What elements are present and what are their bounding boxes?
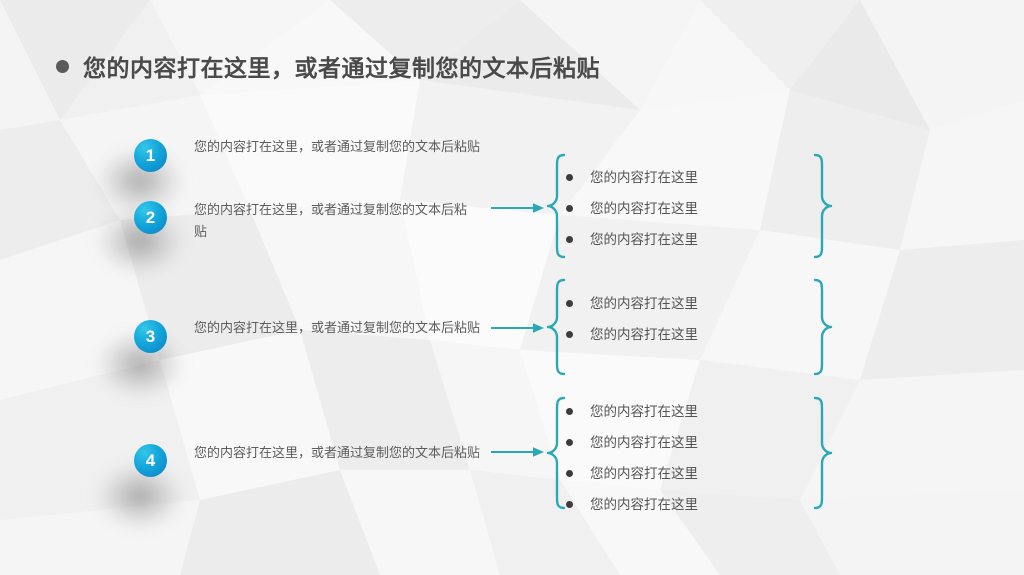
slide-canvas: 您的内容打在这里，或者通过复制您的文本后粘贴 1 您的内容打在这里，或者通过复制…: [0, 0, 1024, 575]
arrow-right-icon: [491, 445, 546, 459]
list-item: 您的内容打在这里: [566, 458, 698, 489]
list-item-label: 您的内容打在这里: [590, 202, 698, 216]
step-text-3: 您的内容打在这里，或者通过复制您的文本后粘贴: [194, 317, 494, 339]
list-item: 您的内容打在这里: [566, 396, 698, 427]
list-item-label: 您的内容打在这里: [590, 297, 698, 311]
page-title: 您的内容打在这里，或者通过复制您的文本后粘贴: [56, 49, 600, 83]
step-text-2: 您的内容打在这里，或者通过复制您的文本后粘贴: [194, 199, 474, 244]
list-item: 您的内容打在这里: [566, 489, 698, 520]
step-number-2[interactable]: 2: [134, 201, 167, 234]
arrow-right-icon: [491, 201, 546, 215]
curly-brace-right-icon: [812, 277, 834, 377]
step-number-3[interactable]: 3: [134, 320, 167, 353]
list-bullet-icon: [566, 439, 573, 446]
list-bullet-icon: [566, 501, 573, 508]
arrow-right-icon: [491, 321, 546, 335]
list-bullet-icon: [566, 174, 573, 181]
curly-brace-right-icon: [812, 395, 834, 511]
bullet-group-2: 您的内容打在这里 您的内容打在这里: [566, 288, 698, 350]
step-text-1: 您的内容打在这里，或者通过复制您的文本后粘贴: [194, 136, 519, 158]
list-bullet-icon: [566, 300, 573, 307]
list-item: 您的内容打在这里: [566, 319, 698, 350]
curly-brace-left-icon: [545, 277, 567, 377]
curly-brace-left-icon: [545, 395, 567, 511]
list-item-label: 您的内容打在这里: [590, 233, 698, 247]
list-item-label: 您的内容打在这里: [590, 436, 698, 450]
list-bullet-icon: [566, 408, 573, 415]
curly-brace-left-icon: [545, 152, 567, 260]
bullet-group-1: 您的内容打在这里 您的内容打在这里 您的内容打在这里: [566, 162, 698, 255]
list-item-label: 您的内容打在这里: [590, 467, 698, 481]
curly-brace-right-icon: [812, 152, 834, 260]
list-bullet-icon: [566, 236, 573, 243]
list-item: 您的内容打在这里: [566, 193, 698, 224]
list-item-label: 您的内容打在这里: [590, 328, 698, 342]
list-bullet-icon: [566, 470, 573, 477]
list-item: 您的内容打在这里: [566, 427, 698, 458]
step-number-1[interactable]: 1: [134, 139, 167, 172]
list-item: 您的内容打在这里: [566, 224, 698, 255]
bullet-group-3: 您的内容打在这里 您的内容打在这里 您的内容打在这里 您的内容打在这里: [566, 396, 698, 520]
list-item: 您的内容打在这里: [566, 288, 698, 319]
list-item: 您的内容打在这里: [566, 162, 698, 193]
list-bullet-icon: [566, 331, 573, 338]
list-item-label: 您的内容打在这里: [590, 498, 698, 512]
list-item-label: 您的内容打在这里: [590, 171, 698, 185]
background-polygon-pattern: [0, 0, 1024, 575]
step-number-4[interactable]: 4: [134, 444, 167, 477]
list-item-label: 您的内容打在这里: [590, 405, 698, 419]
list-bullet-icon: [566, 205, 573, 212]
step-text-4: 您的内容打在这里，或者通过复制您的文本后粘贴: [194, 442, 494, 464]
dot-bullet-icon: [56, 60, 69, 73]
page-title-text: 您的内容打在这里，或者通过复制您的文本后粘贴: [83, 49, 600, 83]
